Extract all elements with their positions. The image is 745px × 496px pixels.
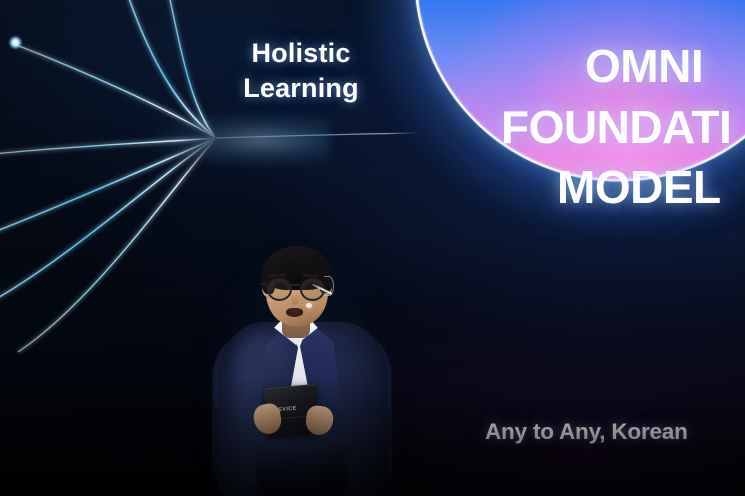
presenter-waist-shadow bbox=[256, 442, 348, 496]
slide-label-holistic-learning: Holistic Learning bbox=[237, 36, 365, 106]
glasses-bridge bbox=[288, 284, 300, 286]
presenter-mouth bbox=[286, 308, 303, 317]
presenter-nose bbox=[291, 294, 299, 305]
slide-headline: OMNI FOUNDATI MODEL bbox=[585, 36, 731, 218]
slide-tagline: Any to Any, Korean bbox=[485, 419, 688, 445]
presenter: DEVICE bbox=[196, 246, 406, 496]
headline-line-3: MODEL bbox=[557, 157, 731, 218]
holistic-learning-line-2: Learning bbox=[243, 73, 359, 103]
streak-convergence-glow bbox=[150, 112, 330, 168]
headline-line-2: FOUNDATI bbox=[501, 97, 731, 158]
glow-dot bbox=[9, 36, 22, 49]
holistic-learning-line-1: Holistic bbox=[251, 38, 350, 68]
headline-line-1: OMNI bbox=[585, 36, 731, 97]
glasses-left-lens-icon bbox=[267, 278, 292, 301]
microphone-icon bbox=[306, 303, 312, 308]
stage-photo: Holistic Learning OMNI FOUNDATI MODEL An… bbox=[0, 0, 745, 496]
